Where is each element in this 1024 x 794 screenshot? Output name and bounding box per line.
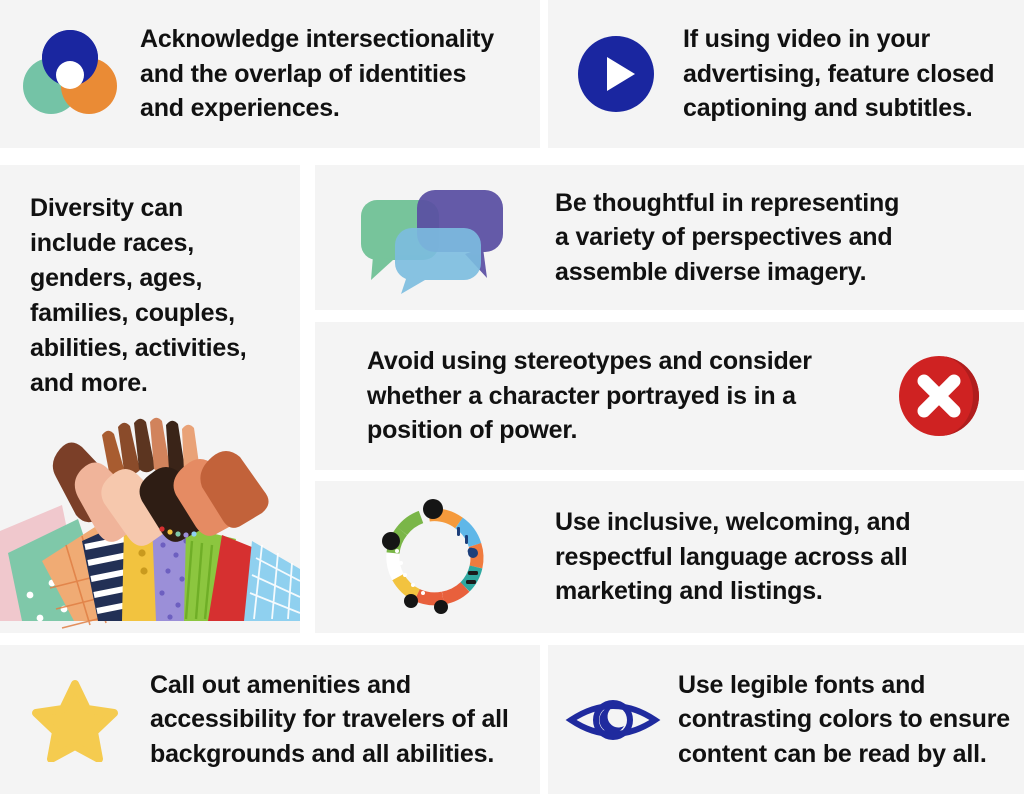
tip-text-diversity: Diversity can include races, genders, ag… (0, 165, 300, 401)
tip-text-intersectionality: Acknowledge intersectionality and the ov… (140, 22, 494, 126)
red-x-circle-icon (854, 336, 1024, 456)
tip-text-video-captions: If using video in your advertising, feat… (683, 22, 994, 126)
tip-card-amenities: Call out amenities and accessibility for… (0, 645, 540, 794)
tip-text-legible-fonts: Use legible fonts and contrasting colors… (678, 668, 1010, 772)
tip-text-thoughtful: Be thoughtful in representing a variety … (555, 186, 899, 290)
tip-card-language: Use inclusive, welcoming, and respectful… (315, 481, 1024, 633)
tip-text-language: Use inclusive, welcoming, and respectful… (555, 505, 910, 609)
tip-card-video-captions: If using video in your advertising, feat… (548, 0, 1024, 148)
people-circle-icon (315, 487, 555, 627)
tip-card-intersectionality: Acknowledge intersectionality and the ov… (0, 0, 540, 148)
speech-bubbles-icon (315, 178, 555, 298)
tip-card-diversity: Diversity can include races, genders, ag… (0, 165, 300, 633)
tip-card-stereotypes: Avoid using stereotypes and consider whe… (315, 322, 1024, 470)
tip-text-stereotypes: Avoid using stereotypes and consider whe… (315, 344, 812, 448)
star-icon (0, 665, 150, 775)
infographic-board: Acknowledge intersectionality and the ov… (0, 0, 1024, 794)
overlapping-circles-icon (0, 24, 140, 124)
tip-text-amenities: Call out amenities and accessibility for… (150, 668, 509, 772)
tip-card-thoughtful: Be thoughtful in representing a variety … (315, 165, 1024, 310)
play-button-icon (548, 24, 683, 124)
diverse-hands-illustration (0, 413, 300, 633)
eye-icon (548, 670, 678, 770)
tip-card-legible-fonts: Use legible fonts and contrasting colors… (548, 645, 1024, 794)
